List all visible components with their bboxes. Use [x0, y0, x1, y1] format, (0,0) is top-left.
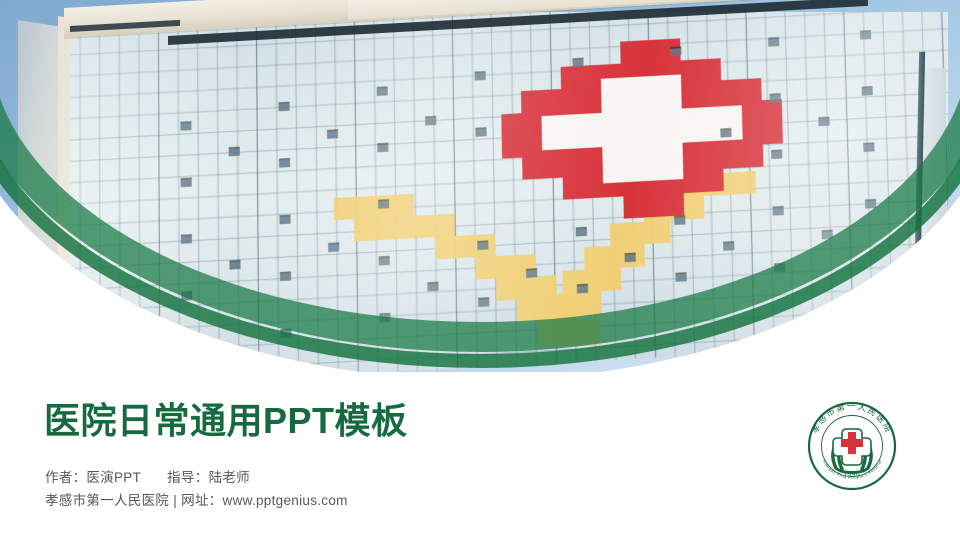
advisor-value: 陆老师: [209, 470, 250, 485]
author-value: 医演PPT: [86, 470, 141, 485]
presentation-slide: 医院日常通用PPT模板 作者：医演PPT指导：陆老师 孝感市第一人民医院 | 网…: [0, 0, 960, 540]
page-title: 医院日常通用PPT模板: [44, 400, 408, 441]
building-right-return: [924, 68, 946, 359]
hospital-seal-icon: 孝感市第一人民医院 Xiaogan First People's Hospita…: [802, 396, 902, 496]
hospital-logo: 孝感市第一人民医院 Xiaogan First People's Hospita…: [802, 396, 902, 496]
curtain-wall-facade: [70, 12, 948, 372]
hospital-building: [18, 12, 948, 372]
hero-arc-clip: [0, 0, 960, 372]
author-line: 作者：医演PPT指导：陆老师: [45, 466, 250, 486]
url-value[interactable]: www.pptgenius.com: [223, 493, 348, 508]
advisor-label: 指导：: [167, 470, 208, 485]
hero-inner: [0, 0, 960, 372]
window-grid-mullions: [70, 12, 948, 372]
url-label: 网址：: [181, 493, 222, 508]
seal-founded-year: 1940: [844, 471, 860, 478]
curtain-wall-wrapper: [70, 12, 948, 372]
footer-separator: |: [173, 493, 177, 508]
footer-line: 孝感市第一人民医院 | 网址：www.pptgenius.com: [45, 489, 348, 509]
hero-image-region: [0, 0, 960, 372]
author-label: 作者：: [45, 470, 86, 485]
organization-name: 孝感市第一人民医院: [45, 493, 169, 508]
